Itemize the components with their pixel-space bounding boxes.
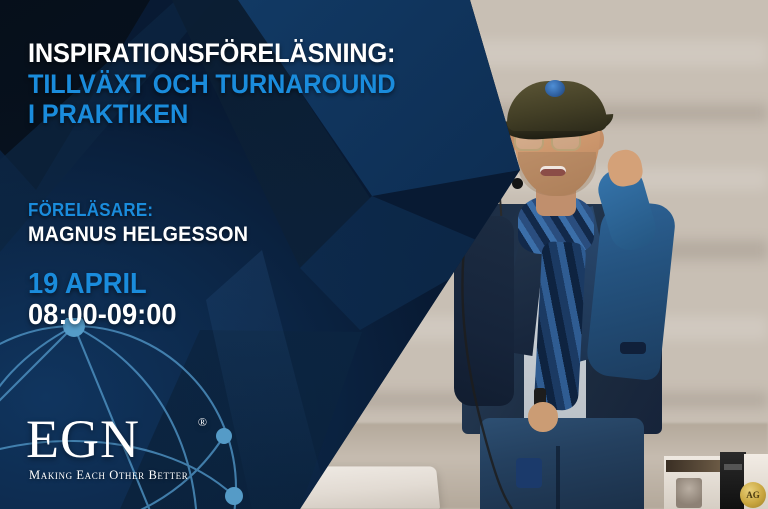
schedule-block: 19 APRIL 08:00-09:00 <box>28 269 470 332</box>
pocket-item <box>516 458 542 488</box>
headline-line-3: I PRAKTIKEN <box>28 99 443 130</box>
jeans-seam <box>556 446 560 509</box>
egn-tagline: Making Each Other Better <box>29 468 206 483</box>
patterned-scarf <box>510 196 602 410</box>
mouth <box>540 166 566 176</box>
scarf-tail <box>534 241 587 411</box>
wristwatch <box>620 342 646 354</box>
event-poster: AG <box>0 0 768 509</box>
egn-logo: EGN® Making Each Other Better <box>26 412 206 483</box>
event-date: 19 APRIL <box>28 269 443 299</box>
headline-line-2: TILLVÄXT OCH TURNAROUND <box>28 69 443 100</box>
book-display-prop: AG <box>664 452 768 509</box>
egn-wordmark-text: EGN <box>26 409 140 469</box>
headline-line-1: INSPIRATIONSFÖRELÄSNING: <box>28 38 443 69</box>
registered-trademark-icon: ® <box>198 416 208 428</box>
speaker-name: MAGNUS HELGESSON <box>28 223 443 247</box>
speaker-block: FÖRELÄSARE: MAGNUS HELGESSON <box>28 200 470 247</box>
book-tab <box>724 464 742 470</box>
jeans <box>480 418 644 509</box>
flower-pin-icon <box>545 80 565 97</box>
event-time: 08:00-09:00 <box>28 300 443 331</box>
speaker-label: FÖRELÄSARE: <box>28 200 443 221</box>
hand-holding-clicker <box>528 402 558 432</box>
book-stripe <box>666 460 720 472</box>
egn-wordmark: EGN® <box>26 412 206 466</box>
book-cover-photo <box>676 478 702 508</box>
gold-seal-badge: AG <box>740 482 766 508</box>
